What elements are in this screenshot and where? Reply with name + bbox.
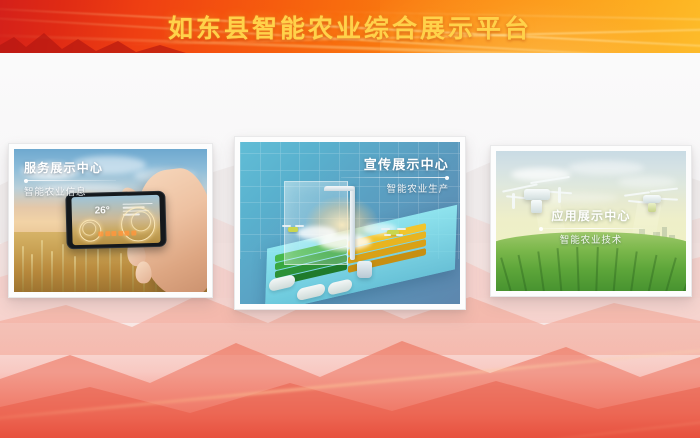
smartphone-screen: 26° [71,195,160,245]
card-promotion-display[interactable]: 宣传展示中心 智能农业生产 [234,136,466,310]
weather-temperature: 26° [95,205,110,216]
card-promotion-image: 宣传展示中心 智能农业生产 [240,142,460,304]
card-title: 宣传展示中心 [341,154,449,173]
caption-divider [341,177,449,178]
mountain-layer-foreground [0,321,700,438]
card-subtitle: 智能农业生产 [341,181,449,195]
card-title: 服务展示中心 [24,159,116,176]
card-subtitle: 智能农业信息 [24,184,116,198]
drone-icon [381,226,407,238]
caption-divider [539,228,643,229]
card-promotion-caption: 宣传展示中心 智能农业生产 [341,154,449,195]
page-title: 如东县智能农业综合展示平台 [0,0,700,53]
caption-divider [24,180,116,181]
drone-icon [282,223,304,233]
card-service-caption: 服务展示中心 智能农业信息 [24,159,116,198]
card-application-display[interactable]: 应用展示中心 智能农业技术 [490,145,692,297]
irrigation-pole [350,186,355,260]
card-application-image: 应用展示中心 智能农业技术 [496,151,686,291]
card-title: 应用展示中心 [496,207,686,224]
status-chips [99,231,137,237]
card-service-image: 26° [14,149,207,292]
header-banner: 如东县智能农业综合展示平台 [0,0,700,53]
card-application-caption: 应用展示中心 智能农业技术 [496,207,686,246]
card-service-display[interactable]: 26° [8,143,213,298]
card-subtitle: 智能农业技术 [496,232,686,246]
water-tank [357,261,372,278]
smartphone-device: 26° [65,191,166,250]
platform-stage: 如东县智能农业综合展示平台 [0,0,700,438]
